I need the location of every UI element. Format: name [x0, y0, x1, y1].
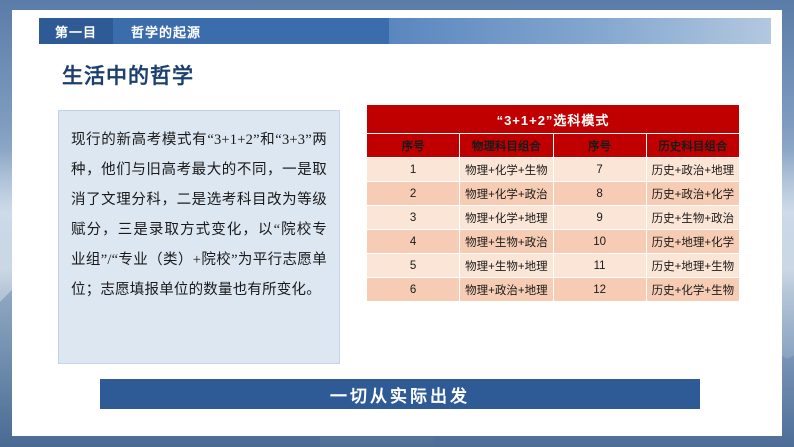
row-5-cell-1: 物理+政治+地理	[460, 278, 553, 302]
table-row: 6 物理+政治+地理 12 历史+化学+生物	[367, 278, 740, 302]
row-0-cell-0: 1	[367, 158, 460, 182]
table-row: 1 物理+化学+生物 7 历史+政治+地理	[367, 158, 740, 182]
row-2-cell-2: 9	[553, 206, 646, 230]
table-row: 5 物理+生物+地理 11 历史+地理+生物	[367, 254, 740, 278]
row-3-cell-3: 历史+地理+化学	[646, 230, 739, 254]
table-body: “3+1+2”选科模式 序号 物理科目组合 序号 历史科目组合 1 物理+化学+…	[367, 105, 740, 302]
header-title-label: 哲学的起源	[113, 18, 389, 44]
row-5-cell-0: 6	[367, 278, 460, 302]
row-1-cell-3: 历史+政治+化学	[646, 182, 739, 206]
row-2-cell-1: 物理+化学+地理	[460, 206, 553, 230]
row-0-cell-1: 物理+化学+生物	[460, 158, 553, 182]
row-2-cell-0: 3	[367, 206, 460, 230]
row-4-cell-1: 物理+生物+地理	[460, 254, 553, 278]
table-header-row: 序号 物理科目组合 序号 历史科目组合	[367, 134, 740, 158]
table-header-cell-3: 历史科目组合	[646, 134, 739, 158]
table-row: 3 物理+化学+地理 9 历史+生物+政治	[367, 206, 740, 230]
row-1-cell-1: 物理+化学+政治	[460, 182, 553, 206]
table-row: 2 物理+化学+政治 8 历史+政治+化学	[367, 182, 740, 206]
row-1-cell-2: 8	[553, 182, 646, 206]
table-header-cell-0: 序号	[367, 134, 460, 158]
table-header-cell-1: 物理科目组合	[460, 134, 553, 158]
table-title: “3+1+2”选科模式	[367, 105, 740, 134]
table-header-cell-2: 序号	[553, 134, 646, 158]
slide-root: 第一目 哲学的起源 生活中的哲学 现行的新高考模式有“3+1+2”和“3+3”两…	[0, 0, 794, 447]
row-2-cell-3: 历史+生物+政治	[646, 206, 739, 230]
subject-combination-table: “3+1+2”选科模式 序号 物理科目组合 序号 历史科目组合 1 物理+化学+…	[366, 104, 740, 302]
table-title-row: “3+1+2”选科模式	[367, 105, 740, 134]
header-bar: 第一目 哲学的起源	[39, 18, 389, 44]
description-textbox: 现行的新高考模式有“3+1+2”和“3+3”两种，他们与旧高考最大的不同，一是取…	[58, 110, 340, 364]
row-5-cell-3: 历史+化学+生物	[646, 278, 739, 302]
bottom-banner: 一切从实际出发	[98, 377, 702, 411]
row-1-cell-0: 2	[367, 182, 460, 206]
page-title: 生活中的哲学	[62, 60, 194, 90]
header-chapter-label: 第一目	[39, 18, 113, 44]
row-5-cell-2: 12	[553, 278, 646, 302]
row-4-cell-2: 11	[553, 254, 646, 278]
row-3-cell-2: 10	[553, 230, 646, 254]
row-4-cell-3: 历史+地理+生物	[646, 254, 739, 278]
subject-combination-table-wrap: “3+1+2”选科模式 序号 物理科目组合 序号 历史科目组合 1 物理+化学+…	[366, 104, 740, 302]
table-row: 4 物理+生物+政治 10 历史+地理+化学	[367, 230, 740, 254]
description-text: 现行的新高考模式有“3+1+2”和“3+3”两种，他们与旧高考最大的不同，一是取…	[71, 125, 327, 305]
row-0-cell-3: 历史+政治+地理	[646, 158, 739, 182]
row-3-cell-0: 4	[367, 230, 460, 254]
header-gradient-tail	[353, 18, 771, 44]
row-0-cell-2: 7	[553, 158, 646, 182]
row-3-cell-1: 物理+生物+政治	[460, 230, 553, 254]
bottom-banner-text: 一切从实际出发	[330, 382, 470, 407]
row-4-cell-0: 5	[367, 254, 460, 278]
